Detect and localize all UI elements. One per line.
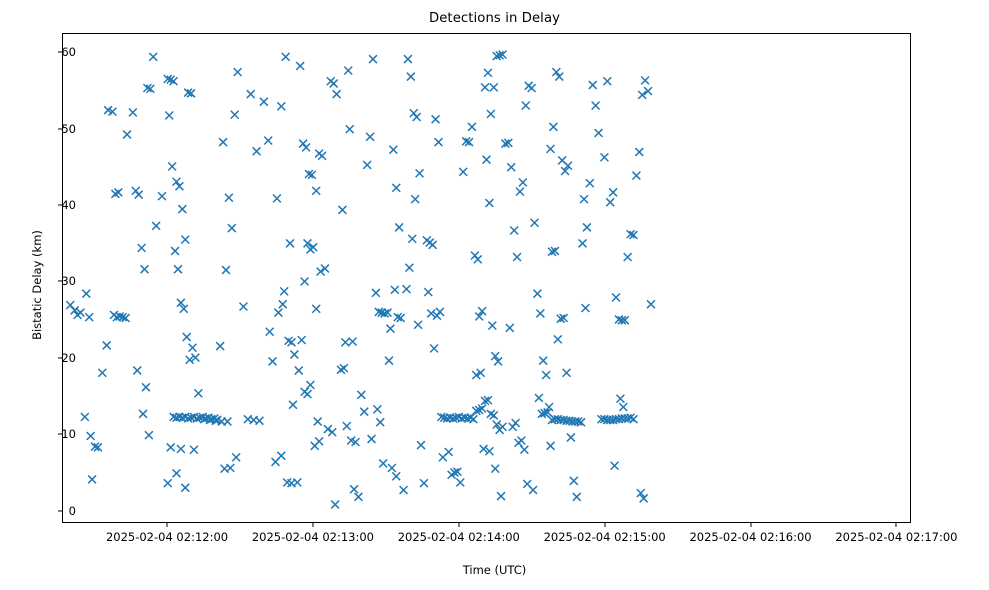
scatter-point <box>171 247 179 255</box>
scatter-point <box>177 445 185 453</box>
scatter-point <box>306 381 314 389</box>
scatter-point <box>231 111 239 119</box>
scatter-point <box>554 335 562 343</box>
scatter-point <box>149 53 157 61</box>
scatter-point <box>392 184 400 192</box>
plot-area <box>62 33 911 523</box>
scatter-point <box>298 336 306 344</box>
scatter-point <box>296 62 304 70</box>
scatter-point <box>414 321 422 329</box>
scatter-point <box>288 338 296 346</box>
scatter-point <box>340 364 348 372</box>
scatter-point <box>266 328 274 336</box>
scatter-point <box>373 405 381 413</box>
scatter-point <box>563 369 571 377</box>
scatter-point <box>436 308 444 316</box>
scatter-point <box>344 67 352 75</box>
scatter-point <box>487 410 495 418</box>
scatter-point <box>612 293 620 301</box>
scatter-point <box>234 68 242 76</box>
scatter-point <box>168 163 176 171</box>
scatter-point <box>135 191 143 199</box>
scatter-point <box>430 344 438 352</box>
scatter-point <box>194 389 202 397</box>
scatter-point <box>181 236 189 244</box>
chart-figure: Detections in Delay Bistatic Delay (km) … <box>0 0 989 590</box>
scatter-point <box>619 403 627 411</box>
scatter-point <box>487 110 495 118</box>
scatter-point <box>484 69 492 77</box>
scatter-point <box>616 395 624 403</box>
x-axis-label: Time (UTC) <box>0 563 989 577</box>
x-tick-label: 2025-02-04 02:15:00 <box>544 530 666 544</box>
scatter-point <box>225 194 233 202</box>
scatter-point <box>341 338 349 346</box>
scatter-point <box>474 255 482 263</box>
scatter-point <box>366 133 374 141</box>
scatter-point <box>592 102 600 110</box>
scatter-point <box>583 223 591 231</box>
scatter-point <box>173 469 181 477</box>
scatter-point <box>389 146 397 154</box>
x-tick-mark <box>750 523 751 527</box>
scatter-point <box>290 351 298 359</box>
scatter-point <box>379 459 387 467</box>
scatter-point <box>469 415 477 423</box>
scatter-point <box>417 441 425 449</box>
scatter-point <box>174 265 182 273</box>
scatter-point <box>400 486 408 494</box>
scatter-point <box>349 338 357 346</box>
scatter-point <box>510 226 518 234</box>
scatter-point <box>324 425 332 433</box>
scatter-point <box>609 188 617 196</box>
x-tick-label: 2025-02-04 02:14:00 <box>398 530 520 544</box>
scatter-point <box>507 163 515 171</box>
scatter-point <box>429 241 437 249</box>
scatter-point <box>167 443 175 451</box>
scatter-point <box>408 235 416 243</box>
x-tick-label: 2025-02-04 02:12:00 <box>106 530 228 544</box>
scatter-series <box>63 34 910 522</box>
scatter-point <box>388 464 396 472</box>
scatter-point <box>647 300 655 308</box>
scatter-point <box>506 324 514 332</box>
scatter-point <box>567 434 575 442</box>
scatter-point <box>497 492 505 500</box>
scatter-point <box>531 219 539 227</box>
scatter-point <box>330 80 338 88</box>
scatter-point <box>459 168 467 176</box>
scatter-point <box>635 148 643 156</box>
scatter-point <box>395 223 403 231</box>
x-tick-mark <box>166 523 167 527</box>
scatter-point <box>483 156 491 164</box>
y-tick-label: 20 <box>61 351 76 365</box>
y-tick-mark <box>58 510 62 511</box>
scatter-point <box>416 169 424 177</box>
scatter-point <box>222 266 230 274</box>
scatter-point <box>404 55 412 63</box>
scatter-point <box>264 137 272 145</box>
scatter-point <box>190 446 198 454</box>
scatter-point <box>513 253 521 261</box>
scatter-point <box>376 418 384 426</box>
scatter-point <box>413 113 421 121</box>
scatter-point <box>181 484 189 492</box>
scatter-point <box>183 333 191 341</box>
scatter-point <box>586 179 594 187</box>
scatter-point <box>488 322 496 330</box>
scatter-point <box>279 300 287 308</box>
scatter-point <box>535 394 543 402</box>
scatter-point <box>295 367 303 375</box>
scatter-point <box>624 253 632 261</box>
scatter-point <box>600 153 608 161</box>
scatter-point <box>552 68 560 76</box>
scatter-point <box>142 383 150 391</box>
scatter-point <box>145 431 153 439</box>
y-tick-mark <box>58 281 62 282</box>
scatter-point <box>247 90 255 98</box>
scatter-point <box>293 478 301 486</box>
scatter-point <box>337 366 345 374</box>
scatter-point <box>611 462 619 470</box>
scatter-point <box>138 244 146 252</box>
scatter-point <box>285 337 293 345</box>
scatter-point <box>630 415 638 423</box>
scatter-point <box>490 411 498 419</box>
scatter-point <box>606 198 614 206</box>
x-tick-mark <box>312 523 313 527</box>
scatter-point <box>519 179 527 187</box>
scatter-point <box>333 90 341 98</box>
scatter-point <box>321 265 329 273</box>
scatter-point <box>87 432 95 440</box>
scatter-point <box>528 84 536 92</box>
y-tick-mark <box>58 357 62 358</box>
scatter-point <box>522 102 530 110</box>
y-tick-label: 60 <box>61 45 76 59</box>
scatter-point <box>317 268 325 276</box>
scatter-point <box>269 357 277 365</box>
scatter-point <box>445 448 453 456</box>
scatter-point <box>542 371 550 379</box>
scatter-point <box>301 277 309 285</box>
scatter-point <box>189 344 197 352</box>
scatter-point <box>280 287 288 295</box>
scatter-point <box>158 192 166 200</box>
scatter-point <box>228 224 236 232</box>
scatter-point <box>312 305 320 313</box>
scatter-point <box>164 479 172 487</box>
scatter-point <box>456 478 464 486</box>
scatter-point <box>256 417 264 425</box>
x-tick-label: 2025-02-04 02:16:00 <box>689 530 811 544</box>
scatter-point <box>555 73 563 81</box>
scatter-point <box>580 195 588 203</box>
scatter-point <box>331 501 339 509</box>
scatter-point <box>481 83 489 91</box>
scatter-point <box>338 206 346 214</box>
scatter-point <box>641 77 649 85</box>
x-tick-label: 2025-02-04 02:17:00 <box>835 530 957 544</box>
scatter-point <box>111 190 119 198</box>
y-tick-label: 30 <box>61 274 76 288</box>
scatter-point <box>315 437 323 445</box>
scatter-point <box>363 161 371 169</box>
scatter-point <box>302 144 310 152</box>
x-tick-mark <box>604 523 605 527</box>
scatter-point <box>405 264 413 272</box>
scatter-point <box>328 428 336 436</box>
scatter-point <box>173 178 181 186</box>
scatter-point <box>424 288 432 296</box>
scatter-point <box>81 413 89 421</box>
y-tick-mark <box>58 434 62 435</box>
scatter-point <box>360 408 368 416</box>
x-tick-label: 2025-02-04 02:13:00 <box>252 530 374 544</box>
scatter-point <box>547 442 555 450</box>
scatter-point <box>260 98 268 106</box>
scatter-point <box>175 182 183 190</box>
x-tick-mark <box>896 523 897 527</box>
scatter-point <box>516 188 524 196</box>
scatter-point <box>98 369 106 377</box>
scatter-point <box>490 83 498 91</box>
scatter-point <box>226 464 234 472</box>
scatter-point <box>350 485 358 493</box>
scatter-point <box>403 285 411 293</box>
scatter-point <box>529 486 537 494</box>
scatter-point <box>570 477 578 485</box>
y-tick-mark <box>58 204 62 205</box>
scatter-point <box>219 138 227 146</box>
scatter-point <box>289 401 297 409</box>
scatter-point <box>103 341 111 349</box>
scatter-point <box>411 195 419 203</box>
scatter-point <box>178 205 186 213</box>
scatter-point <box>550 123 558 131</box>
scatter-point <box>512 419 520 427</box>
scatter-point <box>123 131 131 139</box>
y-tick-mark <box>58 128 62 129</box>
scatter-point <box>346 125 354 133</box>
scatter-point <box>533 290 541 298</box>
scatter-point <box>368 435 376 443</box>
scatter-point <box>485 199 493 207</box>
scatter-point <box>304 390 312 398</box>
y-tick-label: 0 <box>69 504 76 518</box>
scatter-point <box>216 342 224 350</box>
scatter-point <box>343 422 351 430</box>
scatter-point <box>88 475 96 483</box>
scatter-point <box>232 453 240 461</box>
chart-title: Detections in Delay <box>0 11 989 27</box>
scatter-point <box>520 446 528 454</box>
scatter-point <box>435 138 443 146</box>
scatter-point <box>573 493 581 501</box>
scatter-point <box>354 493 362 501</box>
scatter-point <box>253 147 261 155</box>
scatter-point <box>312 187 320 195</box>
scatter-point <box>547 145 555 153</box>
scatter-point <box>240 303 248 311</box>
scatter-point <box>357 391 365 399</box>
scatter-point <box>579 239 587 247</box>
y-tick-mark <box>58 52 62 53</box>
scatter-point <box>141 265 149 273</box>
scatter-point <box>139 410 147 418</box>
scatter-point <box>407 73 415 81</box>
scatter-point <box>129 108 137 116</box>
scatter-point <box>82 290 90 298</box>
x-tick-mark <box>458 523 459 527</box>
y-axis-label: Bistatic Delay (km) <box>30 185 44 385</box>
scatter-point <box>603 77 611 85</box>
scatter-point <box>387 325 395 333</box>
scatter-point <box>318 152 326 160</box>
scatter-point <box>392 472 400 480</box>
scatter-point <box>589 81 597 89</box>
y-tick-label: 10 <box>61 427 76 441</box>
scatter-point <box>152 222 160 230</box>
scatter-point <box>274 309 282 317</box>
y-tick-label: 50 <box>61 122 76 136</box>
scatter-point <box>539 357 547 365</box>
scatter-point <box>391 286 399 294</box>
scatter-point <box>372 289 380 297</box>
scatter-point <box>595 129 603 137</box>
scatter-point <box>385 357 393 365</box>
scatter-point <box>314 418 322 426</box>
scatter-point <box>273 195 281 203</box>
scatter-point <box>432 115 440 123</box>
y-tick-label: 40 <box>61 198 76 212</box>
scatter-point <box>282 53 290 61</box>
scatter-point <box>277 102 285 110</box>
scatter-point <box>114 188 122 196</box>
scatter-point <box>632 172 640 180</box>
scatter-point <box>85 313 93 321</box>
scatter-point <box>277 452 285 460</box>
scatter-point <box>420 479 428 487</box>
scatter-point <box>369 55 377 63</box>
scatter-point <box>468 123 476 131</box>
scatter-point <box>536 309 544 317</box>
scatter-point <box>286 239 294 247</box>
scatter-point <box>224 418 232 426</box>
scatter-point <box>133 367 141 375</box>
scatter-point <box>517 437 525 445</box>
scatter-point <box>582 304 590 312</box>
scatter-point <box>491 465 499 473</box>
scatter-point <box>165 112 173 120</box>
